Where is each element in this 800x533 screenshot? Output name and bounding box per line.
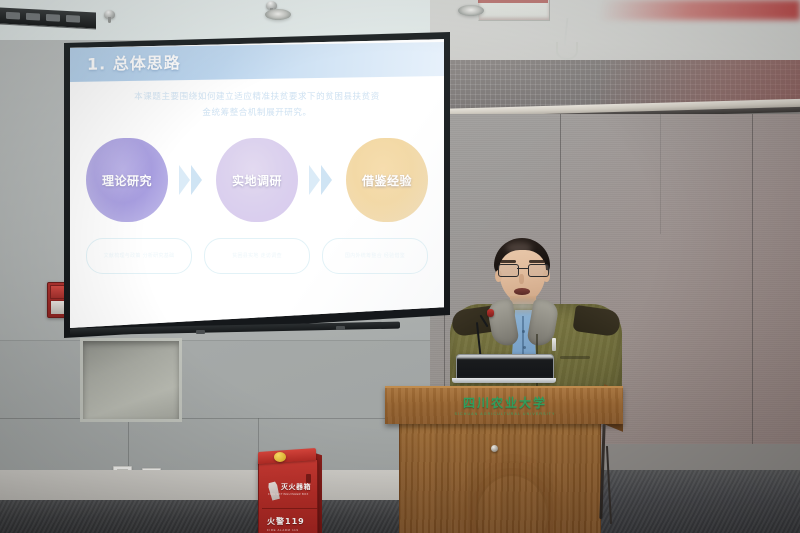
presenter-mouth (514, 288, 530, 295)
slide: 1. 总体思路 本课题主要围绕如何建立适应精准扶贫要求下的贫困县扶贫资金统筹整合… (70, 38, 444, 330)
cabinet-handle[interactable] (306, 474, 311, 483)
wall-seam-horizontal (0, 418, 432, 419)
slide-detail-cards: 文献梳理与政策 分析研究基础 贫困县实地 走访调查 国内外统筹整合 经验借鉴 (86, 238, 428, 272)
flow-step-2-label: 实地调研 (232, 172, 282, 189)
screen-weight (336, 326, 345, 330)
panel-seam (660, 114, 661, 234)
screen-surface: 1. 总体思路 本课题主要围绕如何建立适应精准扶贫要求下的贫困县扶贫资金统筹整合… (70, 38, 444, 330)
detail-card: 贫困县实地 走访调查 (204, 238, 310, 274)
projector-recess-trim (478, 0, 548, 3)
cabinet-latch-icon[interactable] (274, 452, 286, 462)
flow-step-3-label: 借鉴经验 (362, 172, 412, 189)
detail-card: 文献梳理与政策 分析研究基础 (86, 238, 192, 274)
microphone-head (487, 309, 494, 317)
fire-alarm-number-cn: 火警119 (267, 516, 305, 527)
floor-strip (0, 470, 432, 502)
ceiling-red-accent-light (600, 0, 800, 20)
projector-cable-loop (556, 42, 578, 60)
slide-flow-diagram: 理论研究 实地调研 借鉴经验 (86, 138, 428, 222)
podium-lock-knob[interactable] (491, 445, 498, 452)
laptop-base (452, 378, 556, 383)
recessed-light-icon (458, 5, 484, 16)
slide-title: 1. 总体思路 (87, 49, 181, 74)
wall-seam-horizontal (0, 340, 432, 341)
cabinet-divider (262, 508, 318, 509)
wall-recess-niche (80, 338, 182, 422)
recessed-light-icon (265, 9, 291, 20)
cabinet-label-en: FIRE EXTINGUISHER BOX (268, 493, 309, 496)
fire-alarm-number-en: FIRE ALARM 119 (267, 528, 299, 532)
panel-seam (752, 114, 753, 444)
baseboard-left (0, 500, 432, 533)
slide-body-text: 本课题主要围绕如何建立适应精准扶贫要求下的贫困县扶贫资金统筹整合机制展开研究。 (132, 90, 382, 121)
pen-icon (552, 338, 556, 351)
presentation-room-photo: 1. 总体思路 本课题主要围绕如何建立适应精准扶贫要求下的贫困县扶贫资金统筹整合… (0, 0, 800, 533)
projector-recess (478, 0, 550, 21)
flow-step-1: 理论研究 (86, 138, 168, 222)
podium: 四川农业大学 SICHUAN AGRICULTURAL UNIVERSITY (385, 386, 623, 533)
presenter-nose (519, 274, 524, 284)
chevron-right-icon (179, 165, 205, 195)
cabinet-label-cn: 灭火器箱 (281, 482, 311, 492)
screen-weight (196, 330, 205, 334)
sprinkler-icon (104, 10, 115, 19)
fire-extinguisher-cabinet[interactable]: 灭火器箱 FIRE EXTINGUISHER BOX 火警119 FIRE AL… (256, 450, 322, 533)
projection-screen: 1. 总体思路 本课题主要围绕如何建立适应精准扶贫要求下的贫困县扶贫资金统筹整合… (64, 32, 450, 338)
university-logo: 四川农业大学 SICHUAN AGRICULTURAL UNIVERSITY (440, 394, 570, 416)
cabinet-body: 灭火器箱 FIRE EXTINGUISHER BOX 火警119 FIRE AL… (258, 459, 318, 533)
presenter-eyebrow-right (529, 260, 545, 263)
podium-front-panel (399, 419, 601, 533)
university-name-en: SICHUAN AGRICULTURAL UNIVERSITY (440, 412, 570, 416)
presenter-eyebrow-left (500, 260, 516, 263)
university-name-cn: 四川农业大学 (440, 394, 570, 411)
wood-grain (475, 474, 549, 533)
flow-step-2: 实地调研 (216, 138, 298, 222)
flow-step-3: 借鉴经验 (346, 138, 428, 222)
shirt-button (523, 346, 526, 349)
podium-cable-secondary (606, 446, 612, 524)
shirt-button (522, 330, 525, 333)
detail-card: 国内外统筹整合 经验借鉴 (322, 238, 428, 274)
flow-step-1-label: 理论研究 (102, 172, 152, 189)
chevron-right-icon (309, 165, 335, 195)
jacket-pocket-right (560, 356, 590, 359)
